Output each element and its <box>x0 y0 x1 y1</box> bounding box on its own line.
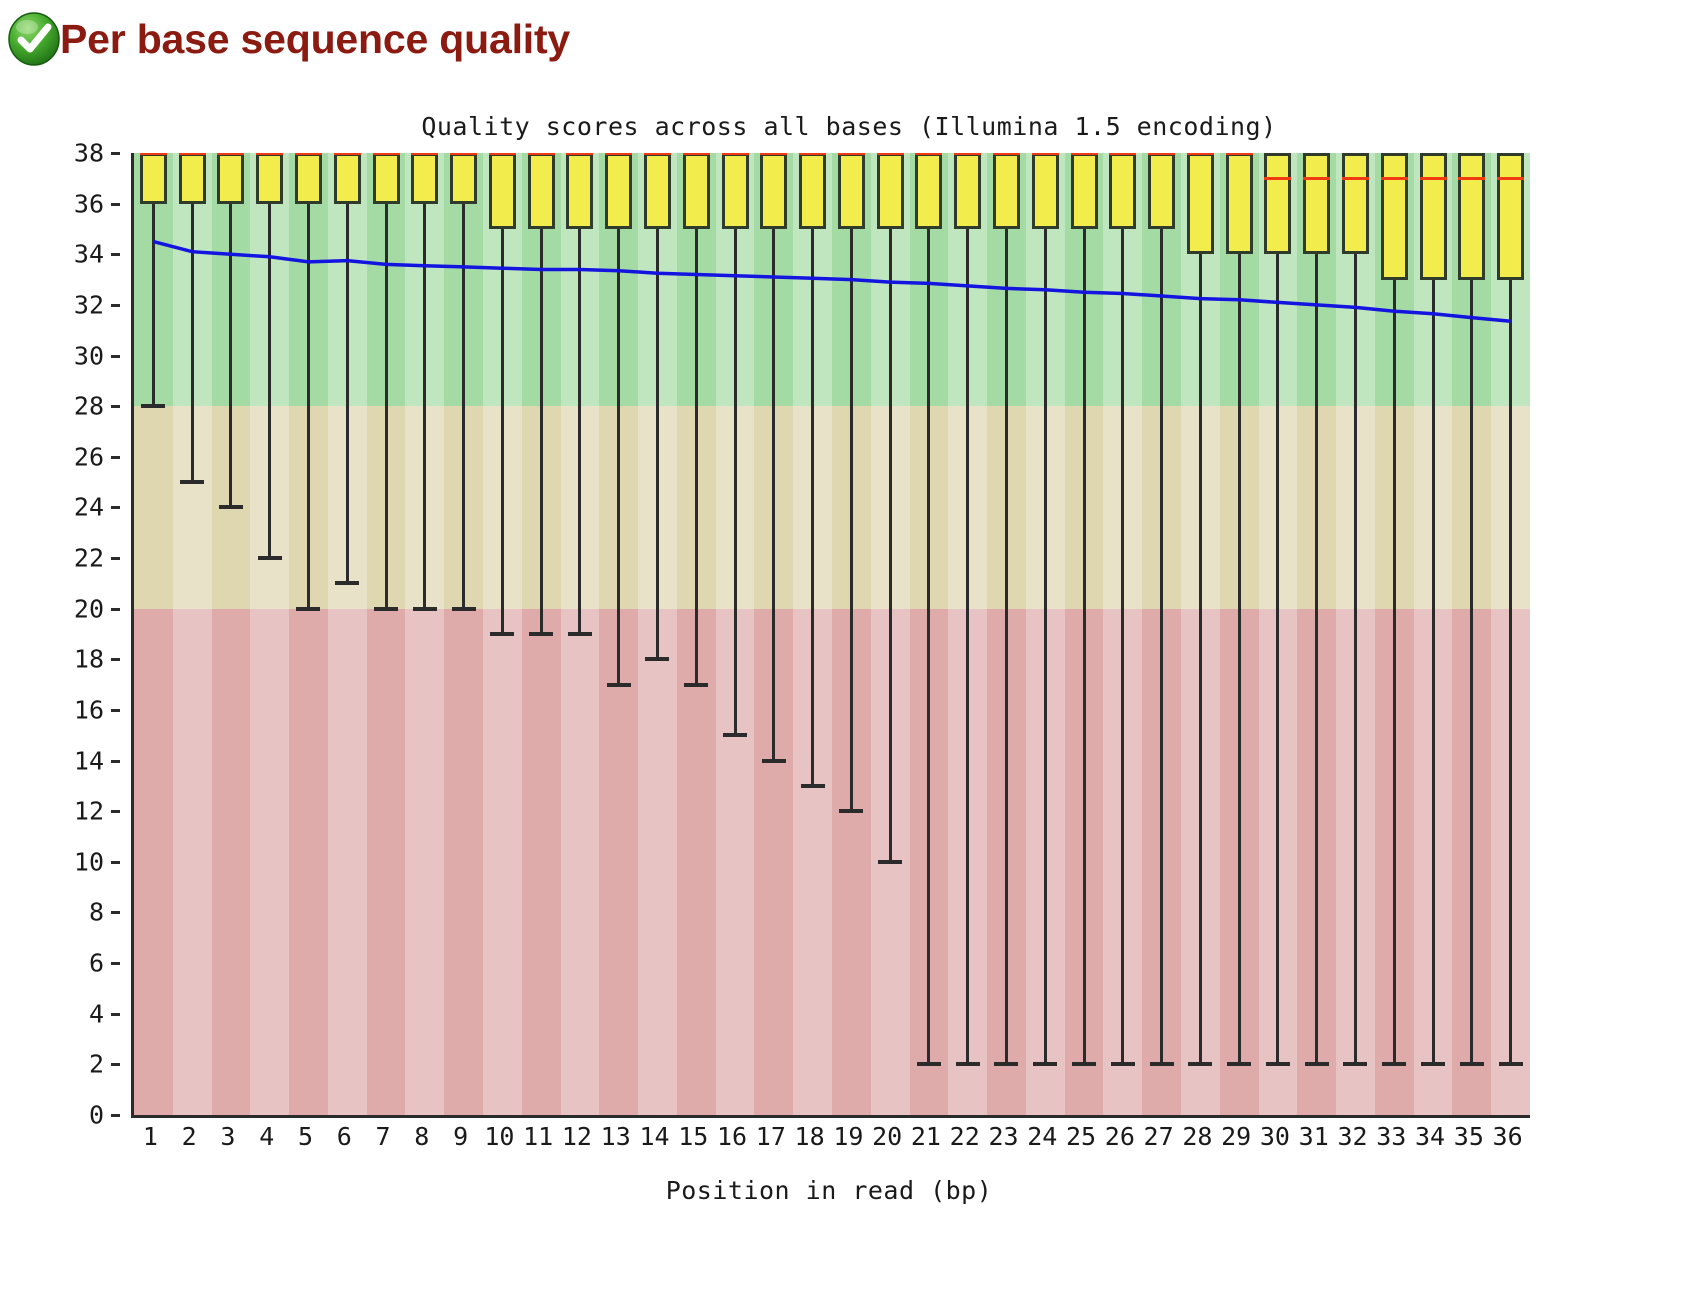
y-tick-label: 4 <box>89 999 104 1028</box>
median-line <box>1187 153 1214 155</box>
whisker-line <box>1470 280 1473 1065</box>
median-line <box>1458 177 1485 180</box>
whisker-line <box>423 204 426 609</box>
iqr-box <box>295 153 322 204</box>
x-tick-label: 18 <box>795 1122 825 1151</box>
whisker-line <box>1238 254 1241 1064</box>
whisker-cap-lower <box>1305 1062 1329 1066</box>
median-line <box>1342 177 1369 180</box>
boxplot-position-22 <box>948 153 987 1115</box>
y-tick-mark <box>111 253 120 256</box>
x-tick-label: 23 <box>988 1122 1018 1151</box>
whisker-line <box>1276 254 1279 1064</box>
iqr-box <box>1109 153 1136 229</box>
iqr-box <box>799 153 826 229</box>
x-tick-label: 35 <box>1454 1122 1484 1151</box>
y-tick-mark <box>111 709 120 712</box>
x-tick-label: 2 <box>182 1122 197 1151</box>
whisker-line <box>578 229 581 634</box>
boxplot-position-9 <box>444 153 483 1115</box>
y-tick-label: 18 <box>74 645 104 674</box>
boxplot-position-16 <box>716 153 755 1115</box>
median-line <box>1497 177 1524 180</box>
whisker-line <box>540 229 543 634</box>
x-tick-label: 16 <box>717 1122 747 1151</box>
y-tick-label: 28 <box>74 392 104 421</box>
y-tick-mark <box>111 608 120 611</box>
boxplot-position-29 <box>1220 153 1259 1115</box>
whisker-line <box>1509 280 1512 1065</box>
iqr-box <box>1187 153 1214 254</box>
x-axis: 1234567891011121314151617181920212223242… <box>131 1122 1527 1158</box>
whisker-cap-lower <box>490 632 514 636</box>
whisker-cap-lower <box>568 632 592 636</box>
whisker-line <box>1083 229 1086 1064</box>
page-title: Per base sequence quality <box>60 16 570 63</box>
iqr-box <box>1032 153 1059 229</box>
whisker-cap-lower <box>258 556 282 560</box>
y-tick-label: 22 <box>74 544 104 573</box>
median-line <box>683 153 710 155</box>
whisker-cap-lower <box>296 607 320 611</box>
boxplot-position-13 <box>599 153 638 1115</box>
plot-inner <box>134 153 1530 1115</box>
whisker-line <box>268 204 271 558</box>
whisker-cap-lower <box>180 480 204 484</box>
iqr-box <box>140 153 167 204</box>
whisker-cap-lower <box>839 809 863 813</box>
x-tick-label: 3 <box>220 1122 235 1151</box>
y-tick-mark <box>111 355 120 358</box>
whisker-line <box>734 229 737 735</box>
median-line <box>954 153 981 155</box>
y-tick-label: 36 <box>74 189 104 218</box>
y-tick-mark <box>111 1114 120 1117</box>
iqr-box <box>566 153 593 229</box>
boxplot-position-18 <box>793 153 832 1115</box>
y-tick-label: 12 <box>74 797 104 826</box>
boxplot-position-28 <box>1181 153 1220 1115</box>
x-tick-label: 22 <box>950 1122 980 1151</box>
whisker-line <box>772 229 775 761</box>
median-line <box>373 153 400 155</box>
boxplot-position-30 <box>1259 153 1298 1115</box>
median-line <box>256 153 283 155</box>
y-tick-mark <box>111 911 120 914</box>
y-tick-label: 24 <box>74 493 104 522</box>
whisker-line <box>656 229 659 659</box>
y-tick-label: 0 <box>89 1101 104 1130</box>
chart-title: Quality scores across all bases (Illumin… <box>0 112 1698 141</box>
x-tick-label: 29 <box>1221 1122 1251 1151</box>
y-tick-mark <box>111 760 120 763</box>
iqr-box <box>1381 153 1408 280</box>
whisker-cap-lower <box>1072 1062 1096 1066</box>
whisker-cap-lower <box>917 1062 941 1066</box>
whisker-cap-lower <box>1382 1062 1406 1066</box>
iqr-box <box>373 153 400 204</box>
iqr-box <box>683 153 710 229</box>
iqr-box <box>411 153 438 204</box>
whisker-line <box>617 229 620 685</box>
iqr-box <box>179 153 206 204</box>
y-tick-mark <box>111 456 120 459</box>
whisker-cap-lower <box>723 733 747 737</box>
boxplot-position-33 <box>1375 153 1414 1115</box>
whisker-line <box>1432 280 1435 1065</box>
iqr-box <box>644 153 671 229</box>
iqr-box <box>760 153 787 229</box>
median-line <box>411 153 438 155</box>
whisker-cap-lower <box>1421 1062 1445 1066</box>
whisker-cap-lower <box>801 784 825 788</box>
iqr-box <box>877 153 904 229</box>
median-line <box>1032 153 1059 155</box>
iqr-box <box>450 153 477 204</box>
whisker-cap-lower <box>374 607 398 611</box>
y-tick-mark <box>111 405 120 408</box>
whisker-cap-lower <box>1111 1062 1135 1066</box>
x-tick-label: 14 <box>639 1122 669 1151</box>
iqr-box <box>1071 153 1098 229</box>
y-tick-label: 20 <box>74 594 104 623</box>
median-line <box>1420 177 1447 180</box>
median-line <box>1303 177 1330 180</box>
x-tick-label: 27 <box>1144 1122 1174 1151</box>
boxplot-position-21 <box>910 153 949 1115</box>
iqr-box <box>256 153 283 204</box>
boxplot-position-17 <box>754 153 793 1115</box>
whisker-line <box>346 204 349 584</box>
x-tick-label: 30 <box>1260 1122 1290 1151</box>
boxplot-position-7 <box>367 153 406 1115</box>
boxplot-position-34 <box>1414 153 1453 1115</box>
whisker-line <box>385 204 388 609</box>
plot-area <box>131 153 1530 1118</box>
median-line <box>605 153 632 155</box>
whisker-line <box>229 204 232 508</box>
whisker-line <box>1354 254 1357 1064</box>
x-tick-label: 25 <box>1066 1122 1096 1151</box>
median-line <box>760 153 787 155</box>
x-tick-label: 7 <box>376 1122 391 1151</box>
iqr-box <box>722 153 749 229</box>
whisker-line <box>1315 254 1318 1064</box>
median-line <box>1264 177 1291 180</box>
boxplot-position-20 <box>871 153 910 1115</box>
boxplot-position-26 <box>1103 153 1142 1115</box>
whisker-line <box>966 229 969 1064</box>
iqr-box <box>1303 153 1330 254</box>
y-tick-mark <box>111 810 120 813</box>
whisker-line <box>850 229 853 811</box>
median-line <box>1226 153 1253 155</box>
y-tick-label: 2 <box>89 1050 104 1079</box>
iqr-box <box>489 153 516 229</box>
module-header: Per base sequence quality <box>0 8 570 70</box>
boxplot-position-14 <box>638 153 677 1115</box>
boxplot-position-5 <box>289 153 328 1115</box>
y-tick-label: 16 <box>74 695 104 724</box>
median-line <box>295 153 322 155</box>
median-line <box>644 153 671 155</box>
median-line <box>450 153 477 155</box>
boxplot-position-2 <box>173 153 212 1115</box>
median-line <box>489 153 516 155</box>
median-line <box>528 153 555 155</box>
y-tick-label: 38 <box>74 139 104 168</box>
iqr-box <box>1497 153 1524 280</box>
x-tick-label: 32 <box>1337 1122 1367 1151</box>
median-line <box>1071 153 1098 155</box>
whisker-cap-lower <box>607 683 631 687</box>
median-line <box>838 153 865 155</box>
x-tick-label: 15 <box>678 1122 708 1151</box>
whisker-line <box>1044 229 1047 1064</box>
whisker-cap-lower <box>1266 1062 1290 1066</box>
y-tick-mark <box>111 1063 120 1066</box>
y-tick-label: 6 <box>89 949 104 978</box>
boxplot-position-19 <box>832 153 871 1115</box>
whisker-cap-lower <box>878 860 902 864</box>
whisker-cap-lower <box>645 657 669 661</box>
whisker-cap-lower <box>335 581 359 585</box>
y-tick-mark <box>111 962 120 965</box>
boxplot-position-25 <box>1065 153 1104 1115</box>
x-tick-label: 19 <box>833 1122 863 1151</box>
x-tick-label: 17 <box>756 1122 786 1151</box>
x-tick-label: 4 <box>259 1122 274 1151</box>
boxplot-position-11 <box>522 153 561 1115</box>
whisker-cap-lower <box>529 632 553 636</box>
x-tick-label: 28 <box>1182 1122 1212 1151</box>
y-tick-label: 32 <box>74 290 104 319</box>
iqr-box <box>993 153 1020 229</box>
whisker-cap-lower <box>141 404 165 408</box>
whisker-cap-lower <box>762 759 786 763</box>
whisker-cap-lower <box>1033 1062 1057 1066</box>
boxplot-position-6 <box>328 153 367 1115</box>
x-tick-label: 36 <box>1493 1122 1523 1151</box>
whisker-cap-lower <box>219 505 243 509</box>
whisker-line <box>1005 229 1008 1064</box>
whisker-line <box>811 229 814 786</box>
whisker-line <box>1160 229 1163 1064</box>
median-line <box>1148 153 1175 155</box>
per-base-quality-chart: Quality scores across all bases (Illumin… <box>0 96 1698 1306</box>
boxplot-position-8 <box>405 153 444 1115</box>
whisker-line <box>889 229 892 862</box>
median-line <box>140 153 167 155</box>
x-tick-label: 34 <box>1415 1122 1445 1151</box>
iqr-box <box>838 153 865 229</box>
boxplot-position-31 <box>1297 153 1336 1115</box>
y-tick-label: 10 <box>74 847 104 876</box>
x-tick-label: 13 <box>601 1122 631 1151</box>
x-tick-label: 26 <box>1105 1122 1135 1151</box>
whisker-cap-lower <box>1150 1062 1174 1066</box>
x-tick-label: 5 <box>298 1122 313 1151</box>
y-tick-mark <box>111 304 120 307</box>
whisker-line <box>927 229 930 1064</box>
boxplot-position-4 <box>250 153 289 1115</box>
whisker-line <box>1199 254 1202 1064</box>
whisker-line <box>307 204 310 609</box>
whisker-line <box>1393 280 1396 1065</box>
x-tick-label: 21 <box>911 1122 941 1151</box>
iqr-box <box>217 153 244 204</box>
y-tick-label: 8 <box>89 898 104 927</box>
whisker-cap-lower <box>1227 1062 1251 1066</box>
iqr-box <box>528 153 555 229</box>
whisker-line <box>1121 229 1124 1064</box>
x-axis-title: Position in read (bp) <box>131 1176 1527 1205</box>
x-tick-label: 10 <box>484 1122 514 1151</box>
boxplot-position-32 <box>1336 153 1375 1115</box>
green-check-circle-icon <box>6 11 62 67</box>
median-line <box>334 153 361 155</box>
boxplot-position-36 <box>1491 153 1530 1115</box>
whisker-cap-lower <box>994 1062 1018 1066</box>
x-tick-label: 11 <box>523 1122 553 1151</box>
x-tick-label: 31 <box>1299 1122 1329 1151</box>
boxplot-position-23 <box>987 153 1026 1115</box>
whisker-cap-lower <box>1460 1062 1484 1066</box>
median-line <box>1381 177 1408 180</box>
median-line <box>722 153 749 155</box>
whisker-line <box>152 204 155 407</box>
y-tick-mark <box>111 557 120 560</box>
x-tick-label: 33 <box>1376 1122 1406 1151</box>
iqr-box <box>1148 153 1175 229</box>
iqr-box <box>1264 153 1291 254</box>
median-line <box>179 153 206 155</box>
iqr-box <box>915 153 942 229</box>
median-line <box>993 153 1020 155</box>
boxplot-position-12 <box>561 153 600 1115</box>
whisker-cap-lower <box>1499 1062 1523 1066</box>
median-line <box>915 153 942 155</box>
y-tick-label: 14 <box>74 746 104 775</box>
whisker-line <box>695 229 698 685</box>
x-tick-label: 12 <box>562 1122 592 1151</box>
median-line <box>877 153 904 155</box>
whisker-cap-lower <box>413 607 437 611</box>
y-tick-label: 26 <box>74 442 104 471</box>
y-tick-mark <box>111 658 120 661</box>
boxplot-position-1 <box>134 153 173 1115</box>
boxplot-position-3 <box>212 153 251 1115</box>
whisker-cap-lower <box>956 1062 980 1066</box>
boxplot-position-10 <box>483 153 522 1115</box>
median-line <box>799 153 826 155</box>
iqr-box <box>954 153 981 229</box>
y-tick-mark <box>111 861 120 864</box>
y-tick-mark <box>111 1013 120 1016</box>
median-line <box>566 153 593 155</box>
iqr-box <box>1226 153 1253 254</box>
x-tick-label: 20 <box>872 1122 902 1151</box>
median-line <box>217 153 244 155</box>
iqr-box <box>605 153 632 229</box>
whisker-cap-lower <box>1188 1062 1212 1066</box>
whisker-cap-lower <box>452 607 476 611</box>
y-tick-mark <box>111 152 120 155</box>
whisker-cap-lower <box>1343 1062 1367 1066</box>
x-tick-label: 24 <box>1027 1122 1057 1151</box>
iqr-box <box>1342 153 1369 254</box>
boxplot-position-15 <box>677 153 716 1115</box>
y-tick-label: 30 <box>74 341 104 370</box>
boxplot-position-27 <box>1142 153 1181 1115</box>
y-tick-mark <box>111 506 120 509</box>
whisker-line <box>462 204 465 609</box>
whisker-line <box>501 229 504 634</box>
y-axis: 02468101214161820222426283032343638 <box>0 153 120 1115</box>
median-line <box>1109 153 1136 155</box>
y-tick-mark <box>111 203 120 206</box>
whisker-line <box>191 204 194 482</box>
x-tick-label: 6 <box>337 1122 352 1151</box>
iqr-box <box>334 153 361 204</box>
x-tick-label: 1 <box>143 1122 158 1151</box>
whisker-cap-lower <box>684 683 708 687</box>
iqr-box <box>1458 153 1485 280</box>
boxplot-position-24 <box>1026 153 1065 1115</box>
x-tick-label: 9 <box>453 1122 468 1151</box>
x-tick-label: 8 <box>414 1122 429 1151</box>
iqr-box <box>1420 153 1447 280</box>
y-tick-label: 34 <box>74 240 104 269</box>
boxplot-position-35 <box>1452 153 1491 1115</box>
